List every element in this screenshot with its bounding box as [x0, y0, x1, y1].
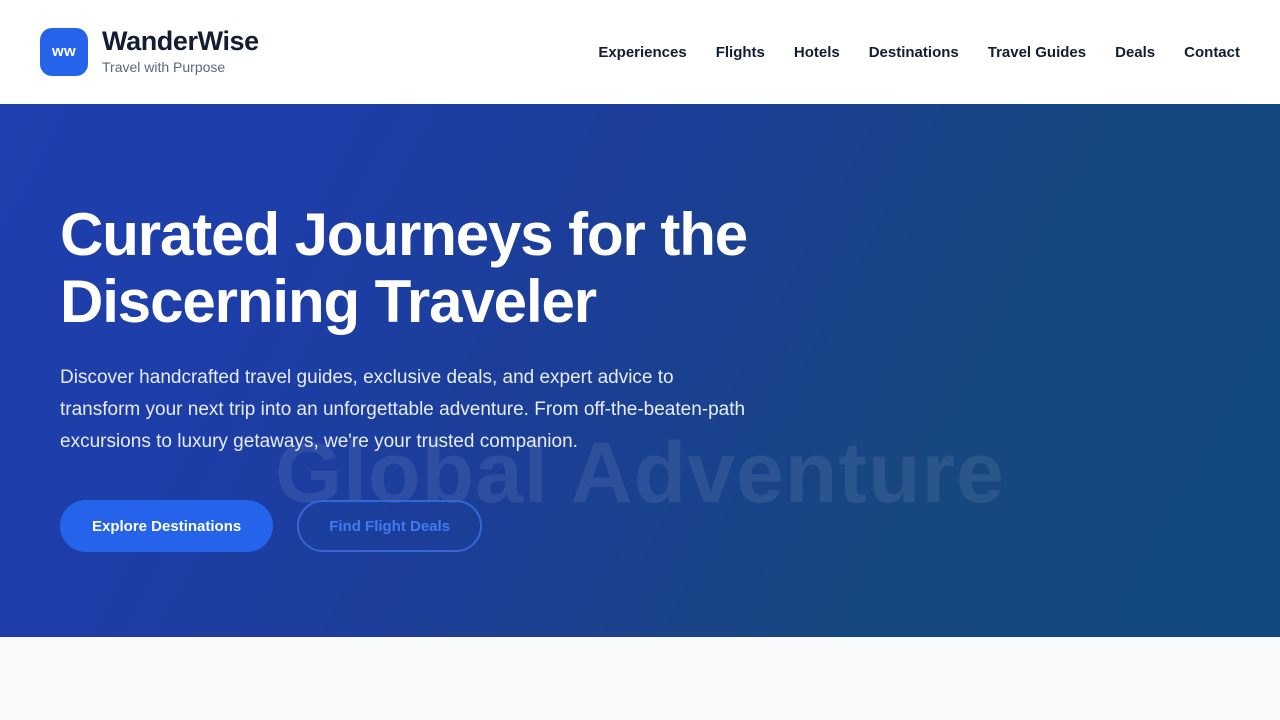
nav-item-destinations[interactable]: Destinations — [869, 44, 959, 61]
hero-content: Curated Journeys for the Discerning Trav… — [0, 104, 800, 552]
find-flight-deals-button[interactable]: Find Flight Deals — [297, 500, 482, 552]
explore-destinations-button[interactable]: Explore Destinations — [60, 500, 273, 552]
nav-item-travel-guides[interactable]: Travel Guides — [988, 44, 1086, 61]
hero-actions: Explore Destinations Find Flight Deals — [60, 500, 760, 552]
site-header: ww WanderWise Travel with Purpose Experi… — [0, 0, 1280, 104]
nav-item-experiences[interactable]: Experiences — [598, 44, 686, 61]
brand-name: WanderWise — [102, 26, 259, 56]
nav-item-contact[interactable]: Contact — [1184, 44, 1240, 61]
main-navigation: Experiences Flights Hotels Destinations … — [598, 44, 1240, 61]
brand-logo[interactable]: ww WanderWise Travel with Purpose — [40, 26, 259, 78]
page-body-below-hero — [0, 637, 1280, 720]
brand-text: WanderWise Travel with Purpose — [102, 26, 259, 78]
hero-title: Curated Journeys for the Discerning Trav… — [60, 201, 760, 335]
nav-item-flights[interactable]: Flights — [716, 44, 765, 61]
nav-item-deals[interactable]: Deals — [1115, 44, 1155, 61]
brand-badge-icon: ww — [40, 28, 88, 76]
nav-item-hotels[interactable]: Hotels — [794, 44, 840, 61]
hero-subtitle: Discover handcrafted travel guides, excl… — [60, 362, 750, 458]
hero-section: Global Adventure Curated Journeys for th… — [0, 104, 1280, 637]
brand-tagline: Travel with Purpose — [102, 57, 259, 78]
